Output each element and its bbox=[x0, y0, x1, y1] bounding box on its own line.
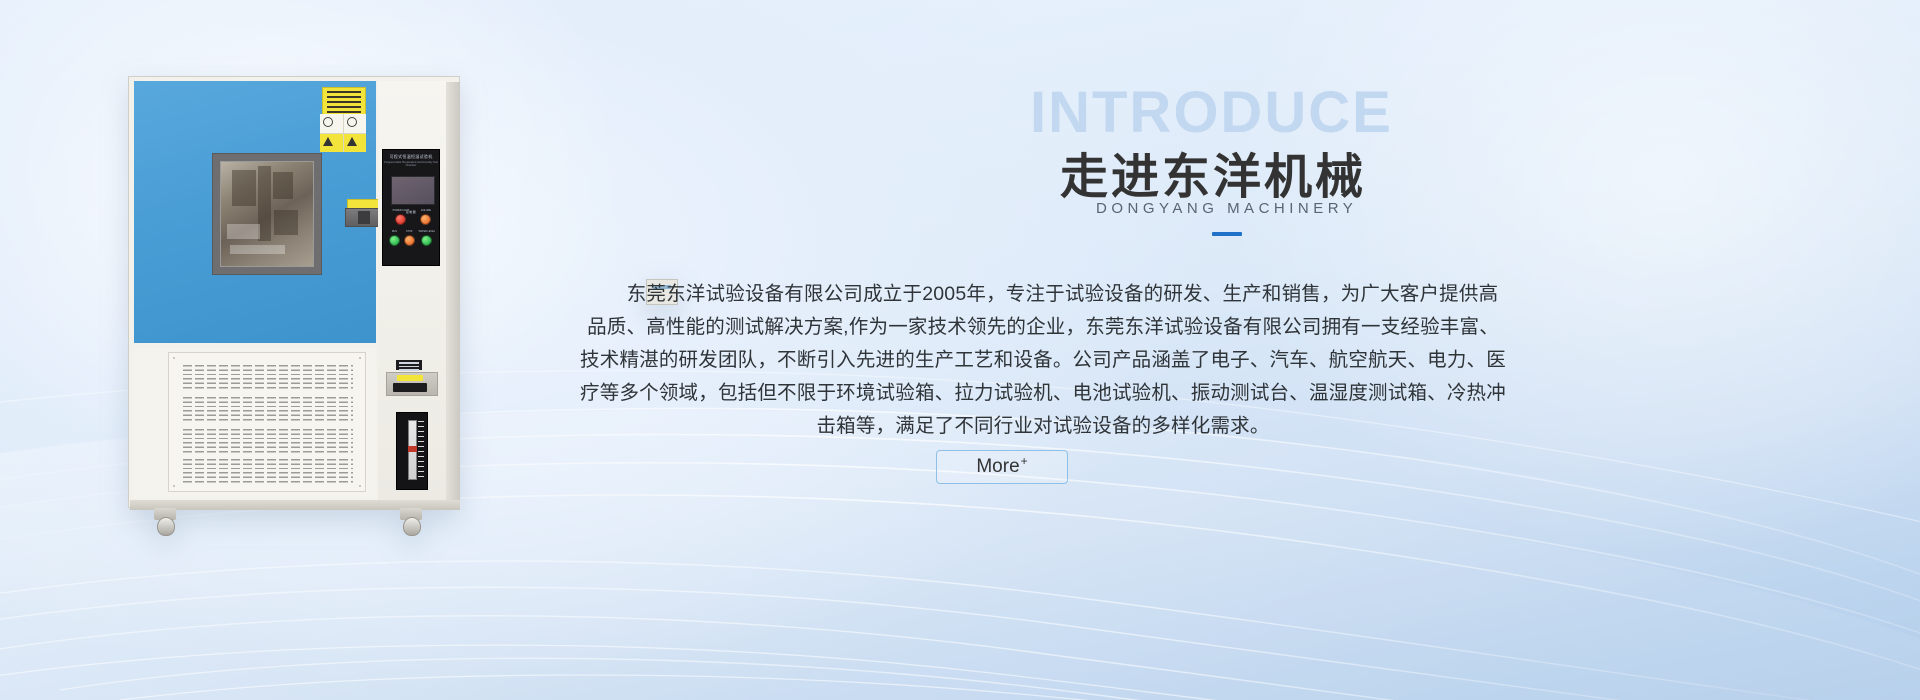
eyebrow-heading: INTRODUCE bbox=[1030, 84, 1393, 142]
page-title: 走进东洋机械 bbox=[1060, 150, 1366, 205]
flow-meter bbox=[396, 412, 428, 490]
warning-icon-caution-2 bbox=[344, 134, 367, 153]
control-panel: 可程式恒温恒湿试验机 Programmable Temperature And … bbox=[382, 149, 440, 266]
lamp-green-2-icon[interactable] bbox=[421, 235, 432, 246]
indicator-water-level[interactable]: WATER LEVEL bbox=[419, 231, 435, 246]
banner-content: INTRODUCE 走进东洋机械 DONGYANG MACHINERY 东莞东洋… bbox=[560, 0, 1860, 700]
lower-cabinet bbox=[134, 348, 376, 498]
chamber-side-panel bbox=[446, 82, 460, 506]
indicator-power[interactable]: POWER LIGHT bbox=[393, 210, 410, 225]
lamp-orange-2-icon[interactable] bbox=[404, 235, 415, 246]
indicator-stop[interactable]: STOP bbox=[404, 231, 415, 246]
lamp-red-icon[interactable] bbox=[395, 214, 406, 225]
more-button-label: More bbox=[976, 456, 1019, 478]
caster-left bbox=[154, 508, 176, 534]
lamp-orange-icon[interactable] bbox=[420, 214, 431, 225]
window-glass bbox=[220, 161, 314, 267]
product-image: 可程式恒温恒湿试验机 Programmable Temperature And … bbox=[128, 76, 468, 531]
vent-grille-3 bbox=[183, 429, 353, 453]
accent-divider bbox=[1212, 232, 1242, 236]
vent-grille-4 bbox=[183, 459, 353, 483]
chamber-door bbox=[134, 81, 376, 343]
warning-label-top bbox=[322, 87, 366, 115]
more-button-superscript: + bbox=[1021, 454, 1028, 468]
panel-title-en: Programmable Temperature And Humidity Te… bbox=[383, 161, 439, 167]
test-chamber-illustration: 可程式恒温恒湿试验机 Programmable Temperature And … bbox=[128, 76, 460, 516]
vent-grille-1 bbox=[183, 365, 353, 389]
vent-grille-2 bbox=[183, 397, 353, 421]
more-button[interactable]: More+ bbox=[936, 450, 1068, 484]
caster-right bbox=[400, 508, 422, 534]
flow-meter-ticks bbox=[418, 421, 424, 479]
water-inlet-port bbox=[393, 383, 427, 392]
indicator-run[interactable]: RUN bbox=[389, 231, 400, 246]
viewing-window bbox=[212, 153, 322, 275]
warning-icon-info bbox=[344, 114, 367, 133]
intro-paragraph: 东莞东洋试验设备有限公司成立于2005年，专注于试验设备的研发、生产和销售，为广… bbox=[578, 278, 1508, 443]
banner-section: 可程式恒温恒湿试验机 Programmable Temperature And … bbox=[0, 0, 1920, 700]
touchscreen-display[interactable] bbox=[391, 176, 435, 205]
lamp-green-icon[interactable] bbox=[389, 235, 400, 246]
warning-icon-no-touch bbox=[320, 114, 343, 133]
indicator-failure[interactable]: FAILURE bbox=[420, 210, 431, 225]
water-inlet-tag bbox=[397, 375, 423, 381]
water-inlet-nameplate bbox=[396, 360, 422, 370]
indicator-row-top: POWER LIGHT FAILURE bbox=[387, 210, 437, 225]
flow-meter-float bbox=[408, 420, 417, 480]
panel-title-cn: 可程式恒温恒湿试验机 bbox=[383, 154, 439, 160]
water-inlet-assembly bbox=[386, 372, 438, 396]
page-subtitle: DONGYANG MACHINERY bbox=[1096, 200, 1357, 217]
warning-icon-caution-1 bbox=[320, 134, 343, 153]
lower-access-door bbox=[168, 352, 366, 492]
indicator-row-bottom: RUN STOP WATER LEVEL bbox=[387, 231, 437, 246]
warning-icon-grid bbox=[320, 114, 366, 152]
